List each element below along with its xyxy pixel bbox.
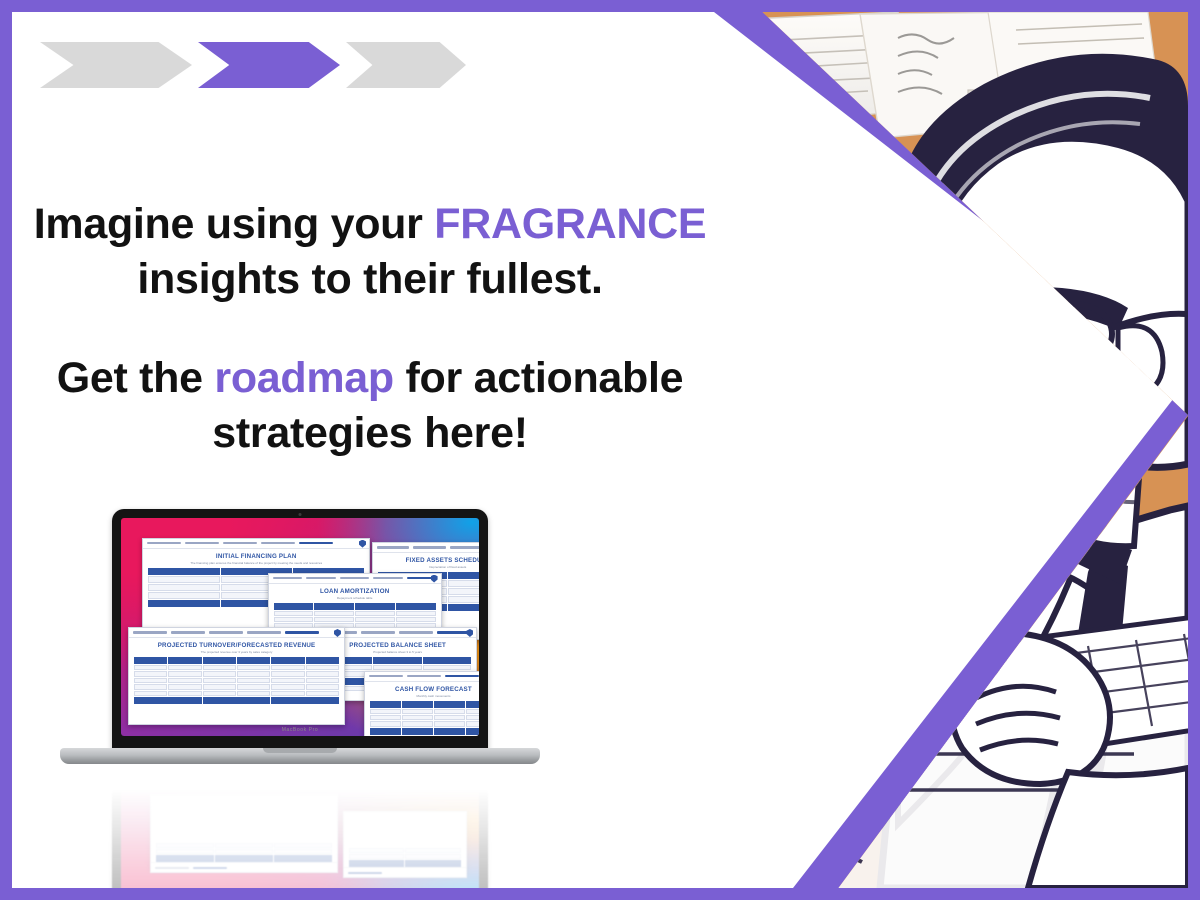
window-subtitle: Depreciation of fixed assets: [373, 565, 479, 569]
reflection-screen: [121, 771, 479, 888]
window-subtitle: Monthly cash movements: [365, 694, 479, 698]
webcam-icon: [299, 513, 302, 516]
reflection-window: [150, 794, 338, 874]
tab-chip[interactable]: [399, 631, 433, 634]
tab-chip: [348, 872, 382, 875]
window-title: FIXED ASSETS SCHEDULE: [375, 557, 479, 564]
tab-chip[interactable]: [261, 542, 295, 545]
tab-chip[interactable]: [373, 577, 403, 580]
tab-chip[interactable]: [413, 546, 446, 549]
table-row: [370, 715, 479, 720]
window-title: LOAN AMORTIZATION: [271, 588, 439, 595]
window-subtitle: The projected revenue over 3 years by sa…: [129, 650, 344, 654]
table-row: [349, 854, 461, 859]
table-row: [274, 611, 436, 616]
reflection-lid: [112, 755, 488, 888]
shield-icon: [359, 540, 366, 548]
reflection-tabbar: [151, 863, 337, 873]
table-header-row: [324, 657, 472, 664]
tab-chip[interactable]: [450, 546, 479, 549]
headline-line-4: strategies here!: [212, 409, 527, 457]
reflection-grid: [156, 843, 332, 863]
laptop-lid: INITIAL FINANCING PLAN The financing pla…: [112, 509, 488, 752]
table-row: [156, 849, 332, 854]
tab-chip-active[interactable]: [437, 631, 471, 634]
laptop-reflection: [60, 771, 540, 888]
tab-chip[interactable]: [273, 577, 303, 580]
spreadsheet-grid[interactable]: [134, 657, 339, 704]
tab-chip[interactable]: [340, 577, 370, 580]
table-header-row: [349, 861, 461, 868]
shield-icon: [334, 629, 341, 637]
window-tabbar[interactable]: [269, 574, 441, 584]
window-tabbar[interactable]: [129, 628, 344, 638]
table-header-row: [156, 856, 332, 863]
tab-chip[interactable]: [306, 577, 336, 580]
headline-line3-post: for actionable: [394, 354, 683, 402]
tab-chip[interactable]: [247, 631, 281, 634]
tab-chip[interactable]: [171, 631, 205, 634]
window-subtitle: Repayment schedule table: [269, 596, 441, 600]
table-row: [134, 691, 339, 696]
table-row: [134, 671, 339, 676]
tab-chip[interactable]: [223, 542, 257, 545]
table-row: [370, 709, 479, 714]
headline-line-2: insights to their fullest.: [137, 255, 602, 303]
headline-keyword-roadmap: roadmap: [214, 354, 394, 402]
shield-icon: [431, 575, 438, 583]
step-chevron-2-active[interactable]: [198, 42, 340, 88]
headline-block: Imagine using your FRAGRANCE insights to…: [30, 197, 710, 461]
window-tabbar[interactable]: [365, 672, 479, 682]
laptop-screen: INITIAL FINANCING PLAN The financing pla…: [121, 518, 479, 736]
table-row: [156, 843, 332, 848]
table-total-row: [134, 697, 339, 704]
step-chevrons[interactable]: [40, 42, 466, 88]
table-header-row: [370, 701, 479, 708]
tab-chip[interactable]: [361, 631, 395, 634]
headline-line-1: Imagine using your FRAGRANCE insights to…: [30, 197, 710, 307]
shield-icon: [466, 629, 473, 637]
table-row: [274, 617, 436, 622]
table-row: [134, 684, 339, 689]
table-header-row: [134, 657, 339, 664]
tab-chip[interactable]: [147, 542, 181, 545]
tab-chip-active[interactable]: [445, 675, 479, 678]
window-title: INITIAL FINANCING PLAN: [145, 553, 367, 560]
table-row: [324, 665, 472, 670]
tab-chip[interactable]: [407, 675, 441, 678]
tab-chip[interactable]: [185, 542, 219, 545]
tab-chip: [155, 867, 189, 870]
table-row: [349, 848, 461, 853]
laptop-base: [60, 748, 540, 764]
table-row: [370, 721, 479, 726]
window-tabbar[interactable]: [143, 539, 369, 549]
window-projected-turnover[interactable]: PROJECTED TURNOVER/FORECASTED REVENUE Th…: [128, 627, 345, 725]
window-title: CASH FLOW FORECAST: [367, 686, 479, 693]
headline-line3-pre: Get the: [57, 354, 215, 402]
tab-chip[interactable]: [133, 631, 167, 634]
slide-canvas: ~~~: [12, 12, 1188, 888]
headline-line1-pre: Imagine using your: [34, 200, 434, 248]
headline-keyword-fragrance: FRAGRANCE: [434, 200, 706, 248]
tab-chip[interactable]: [209, 631, 243, 634]
macbook-model-label: MacBook Pro: [121, 727, 479, 733]
tab-chip-active[interactable]: [285, 631, 319, 634]
window-subtitle: The financing plan ensures the financial…: [143, 561, 369, 565]
promo-slide: ~~~: [0, 0, 1200, 900]
tab-chip: [193, 867, 227, 870]
step-chevron-3[interactable]: [346, 42, 466, 88]
reflection-grid: [349, 848, 461, 868]
table-row: [134, 665, 339, 670]
window-title: PROJECTED TURNOVER/FORECASTED REVENUE: [131, 642, 342, 649]
tab-chip[interactable]: [369, 675, 403, 678]
reflection-tabbar: [344, 868, 466, 878]
table-header-row: [274, 603, 436, 610]
reflection-window: [343, 812, 467, 879]
window-tabbar[interactable]: [373, 543, 479, 553]
laptop-mockup: INITIAL FINANCING PLAN The financing pla…: [60, 509, 540, 799]
tab-chip-active[interactable]: [299, 542, 333, 545]
headline-line-3: Get the roadmap for actionable strategie…: [30, 351, 710, 461]
table-row: [134, 678, 339, 683]
step-chevron-1[interactable]: [40, 42, 192, 88]
tab-chip[interactable]: [377, 546, 410, 549]
